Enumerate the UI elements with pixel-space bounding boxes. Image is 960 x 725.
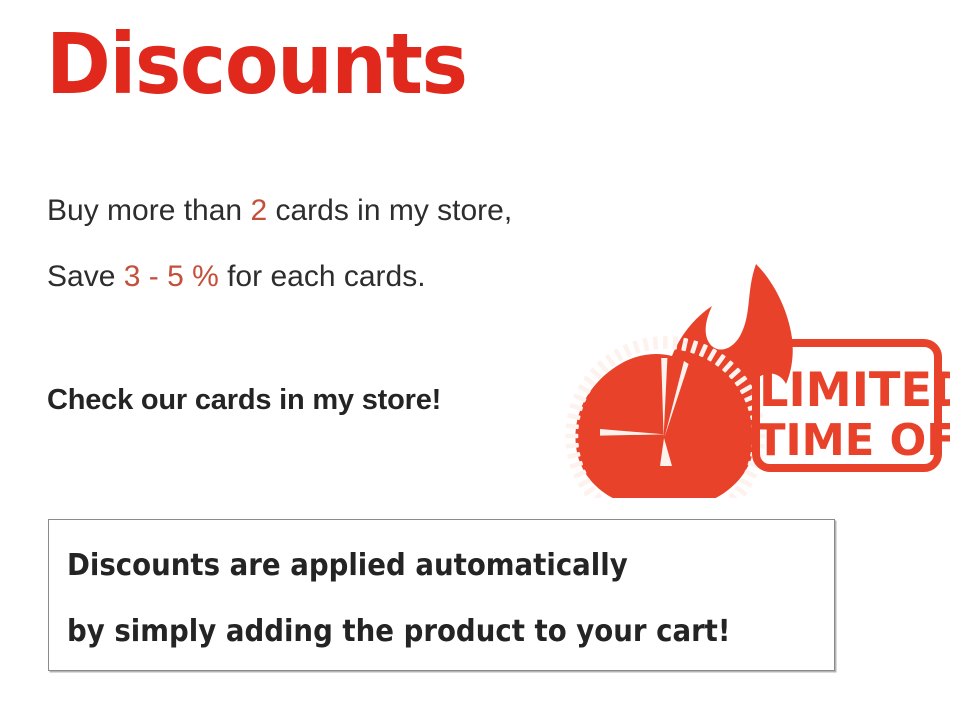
limited-time-offer-graphic: LIMITED TIME OFFER: [560, 248, 950, 498]
minimum-quantity-value: 2: [250, 194, 267, 227]
notice-line-2: by simply adding the product to your car…: [67, 614, 730, 650]
savings-prefix: Save: [47, 260, 124, 293]
savings-line: Save 3 - 5 % for each cards.: [47, 258, 426, 296]
badge-line-2: TIME OFFER: [756, 415, 950, 466]
page-title: Discounts: [46, 16, 467, 112]
offer-badge: LIMITED TIME OFFER: [756, 343, 950, 468]
discount-banner: Discounts Buy more than 2 cards in my st…: [0, 0, 960, 725]
badge-line-1: LIMITED: [759, 363, 950, 417]
call-to-action-text: Check our cards in my store!: [47, 381, 441, 419]
offer-condition-line: Buy more than 2 cards in my store,: [47, 192, 512, 230]
offer-condition-prefix: Buy more than: [47, 194, 250, 227]
discount-percent-value: 3 - 5 %: [124, 260, 219, 293]
auto-discount-notice-box: Discounts are applied automatically by s…: [48, 519, 835, 671]
notice-line-1: Discounts are applied automatically: [67, 548, 628, 584]
savings-suffix: for each cards.: [219, 260, 426, 293]
offer-condition-suffix: cards in my store,: [267, 194, 512, 227]
